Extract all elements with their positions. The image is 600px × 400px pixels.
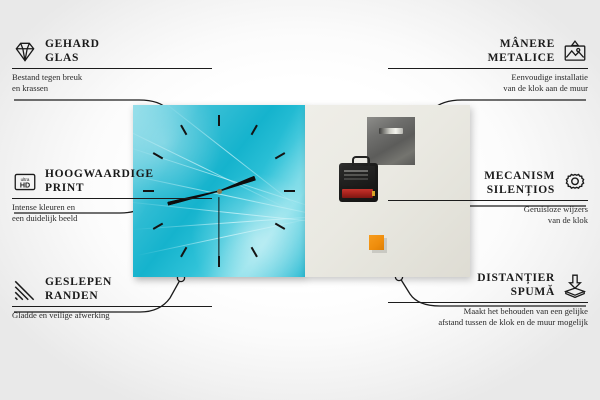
divider — [12, 198, 212, 199]
callout-title: MÂNERE METALICE — [488, 38, 555, 65]
callout-description: Maakt het behouden van een gelijke afsta… — [388, 306, 588, 328]
callout-title: GEHARD GLAS — [45, 38, 100, 65]
callout-handles: MÂNERE METALICE Eenvoudige installatie v… — [388, 38, 588, 94]
picture-frame-icon — [562, 39, 588, 65]
mechanism-label — [342, 166, 375, 186]
clock-mechanism — [339, 163, 378, 202]
callout-description: Intense kleuren en een duidelijk beeld — [12, 202, 212, 224]
clock-tick — [218, 115, 220, 126]
clock-tick — [284, 190, 295, 192]
divider — [388, 302, 588, 303]
beveled-edges-icon — [12, 277, 38, 303]
ultra-hd-icon: ultra HD — [12, 169, 38, 195]
callout-title: HOOGWAARDIGE PRINT — [45, 168, 154, 195]
battery — [342, 189, 373, 198]
callout-description: Eenvoudige installatie van de klok aan d… — [388, 72, 588, 94]
callout-title: DISTANȚIER SPUMĂ — [477, 272, 555, 299]
battery-terminal — [372, 191, 375, 196]
callout-spacer: DISTANȚIER SPUMĂ Maakt het behouden van … — [388, 272, 588, 328]
metal-hanger-plate — [367, 117, 415, 165]
callout-title: MECANISM SILENȚIOS — [484, 170, 555, 197]
callout-print: ultra HD HOOGWAARDIGE PRINT Intense kleu… — [12, 168, 212, 224]
callout-description: Geruisloze wijzers van de klok — [388, 204, 588, 226]
diamond-icon — [12, 39, 38, 65]
svg-text:HD: HD — [20, 181, 30, 189]
divider — [388, 200, 588, 201]
product-infographic: GEHARD GLAS Bestand tegen breuk en krass… — [0, 0, 600, 400]
callout-edges: GESLEPEN RANDEN Gladde en veilige afwerk… — [12, 276, 212, 321]
gear-icon — [562, 171, 588, 197]
divider — [388, 68, 588, 69]
callout-glass: GEHARD GLAS Bestand tegen breuk en krass… — [12, 38, 212, 94]
callout-description: Bestand tegen breuk en krassen — [12, 72, 212, 94]
divider — [12, 68, 212, 69]
press-down-icon — [562, 273, 588, 299]
callout-title: GESLEPEN RANDEN — [45, 276, 112, 303]
hanger-slot — [379, 128, 403, 134]
callout-description: Gladde en veilige afwerking — [12, 310, 212, 321]
foam-spacer — [369, 235, 384, 250]
clock-center-pin — [217, 189, 222, 194]
divider — [12, 306, 212, 307]
callout-mechanism: MECANISM SILENȚIOS Geruisloze wijzers va… — [388, 170, 588, 226]
